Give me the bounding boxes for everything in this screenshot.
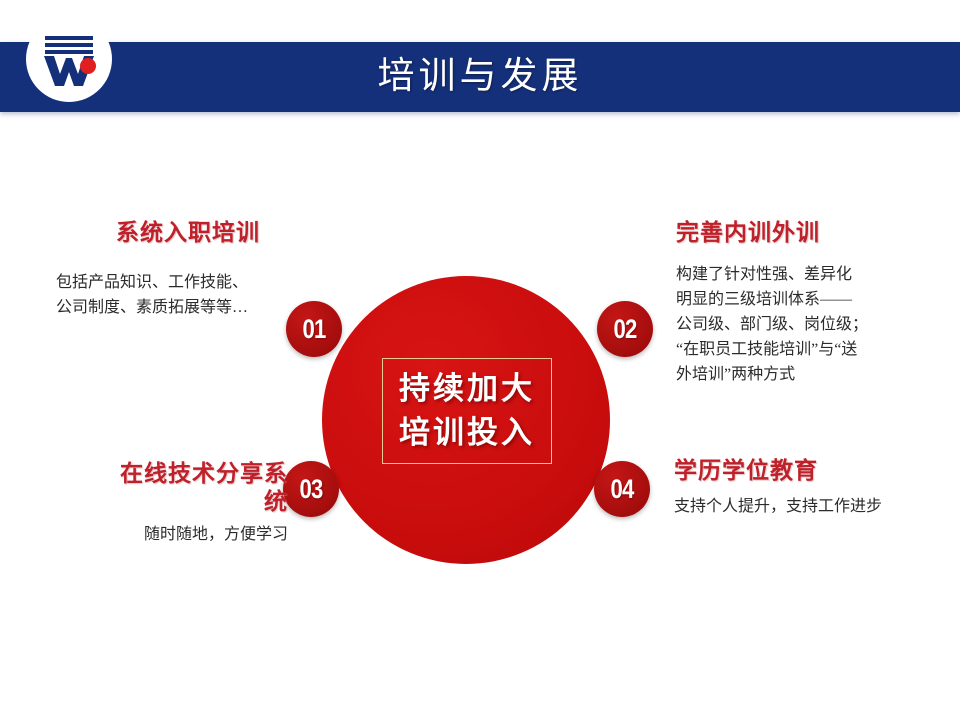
item-block-02: 完善内训外训 构建了针对性强、差异化 明显的三级培训体系—— 公司级、部门级、岗…: [676, 218, 926, 387]
item-02-body-line: 外培训”两种方式: [676, 362, 926, 387]
item-02-body-line: 公司级、部门级、岗位级；: [676, 312, 926, 337]
item-03-heading-line-2: 统: [264, 489, 288, 514]
center-message-line-1: 持续加大: [399, 367, 535, 411]
item-01-heading: 系统入职培训: [116, 218, 296, 248]
badge-03-number: 03: [299, 474, 322, 505]
badge-04-number: 04: [610, 474, 633, 505]
item-01-body-line: 包括产品知识、工作技能、: [56, 270, 296, 295]
item-block-01: 系统入职培训 包括产品知识、工作技能、 公司制度、素质拓展等等…: [56, 218, 296, 320]
badge-02-number: 02: [613, 314, 636, 345]
badge-04[interactable]: 04: [594, 461, 650, 517]
item-02-body-line: 构建了针对性强、差异化: [676, 262, 926, 287]
slide-training-and-development: 培训与发展 持续加大 培训投入 01 02 03 04 系统入职培训: [0, 0, 960, 720]
item-03-body: 随时随地，方便学习: [60, 522, 288, 547]
center-message-box: 持续加大 培训投入: [382, 358, 552, 464]
item-02-body: 构建了针对性强、差异化 明显的三级培训体系—— 公司级、部门级、岗位级； “在职…: [676, 262, 926, 387]
item-01-body: 包括产品知识、工作技能、 公司制度、素质拓展等等…: [56, 270, 296, 320]
badge-02[interactable]: 02: [597, 301, 653, 357]
badge-01-number: 01: [302, 314, 325, 345]
item-03-heading-line-1: 在线技术分享系: [120, 461, 288, 486]
item-04-body-line: 支持个人提升，支持工作进步: [674, 494, 934, 519]
item-01-body-line: 公司制度、素质拓展等等…: [56, 295, 296, 320]
item-block-04: 学历学位教育 支持个人提升，支持工作进步: [674, 456, 934, 519]
company-logo: [26, 16, 112, 102]
item-03-body-line: 随时随地，方便学习: [60, 522, 288, 547]
item-02-body-line: “在职员工技能培训”与“送: [676, 337, 926, 362]
item-02-heading: 完善内训外训: [676, 218, 926, 248]
logo-w-icon: [26, 16, 112, 102]
page-title: 培训与发展: [0, 42, 960, 112]
item-02-body-line: 明显的三级培训体系——: [676, 287, 926, 312]
item-block-03: 在线技术分享系 统 随时随地，方便学习: [60, 460, 288, 547]
logo-red-dot: [80, 58, 96, 74]
badge-03[interactable]: 03: [283, 461, 339, 517]
item-04-body: 支持个人提升，支持工作进步: [674, 494, 934, 519]
item-04-heading: 学历学位教育: [674, 456, 934, 486]
center-message-line-2: 培训投入: [399, 411, 535, 455]
item-03-heading: 在线技术分享系 统: [60, 460, 288, 516]
